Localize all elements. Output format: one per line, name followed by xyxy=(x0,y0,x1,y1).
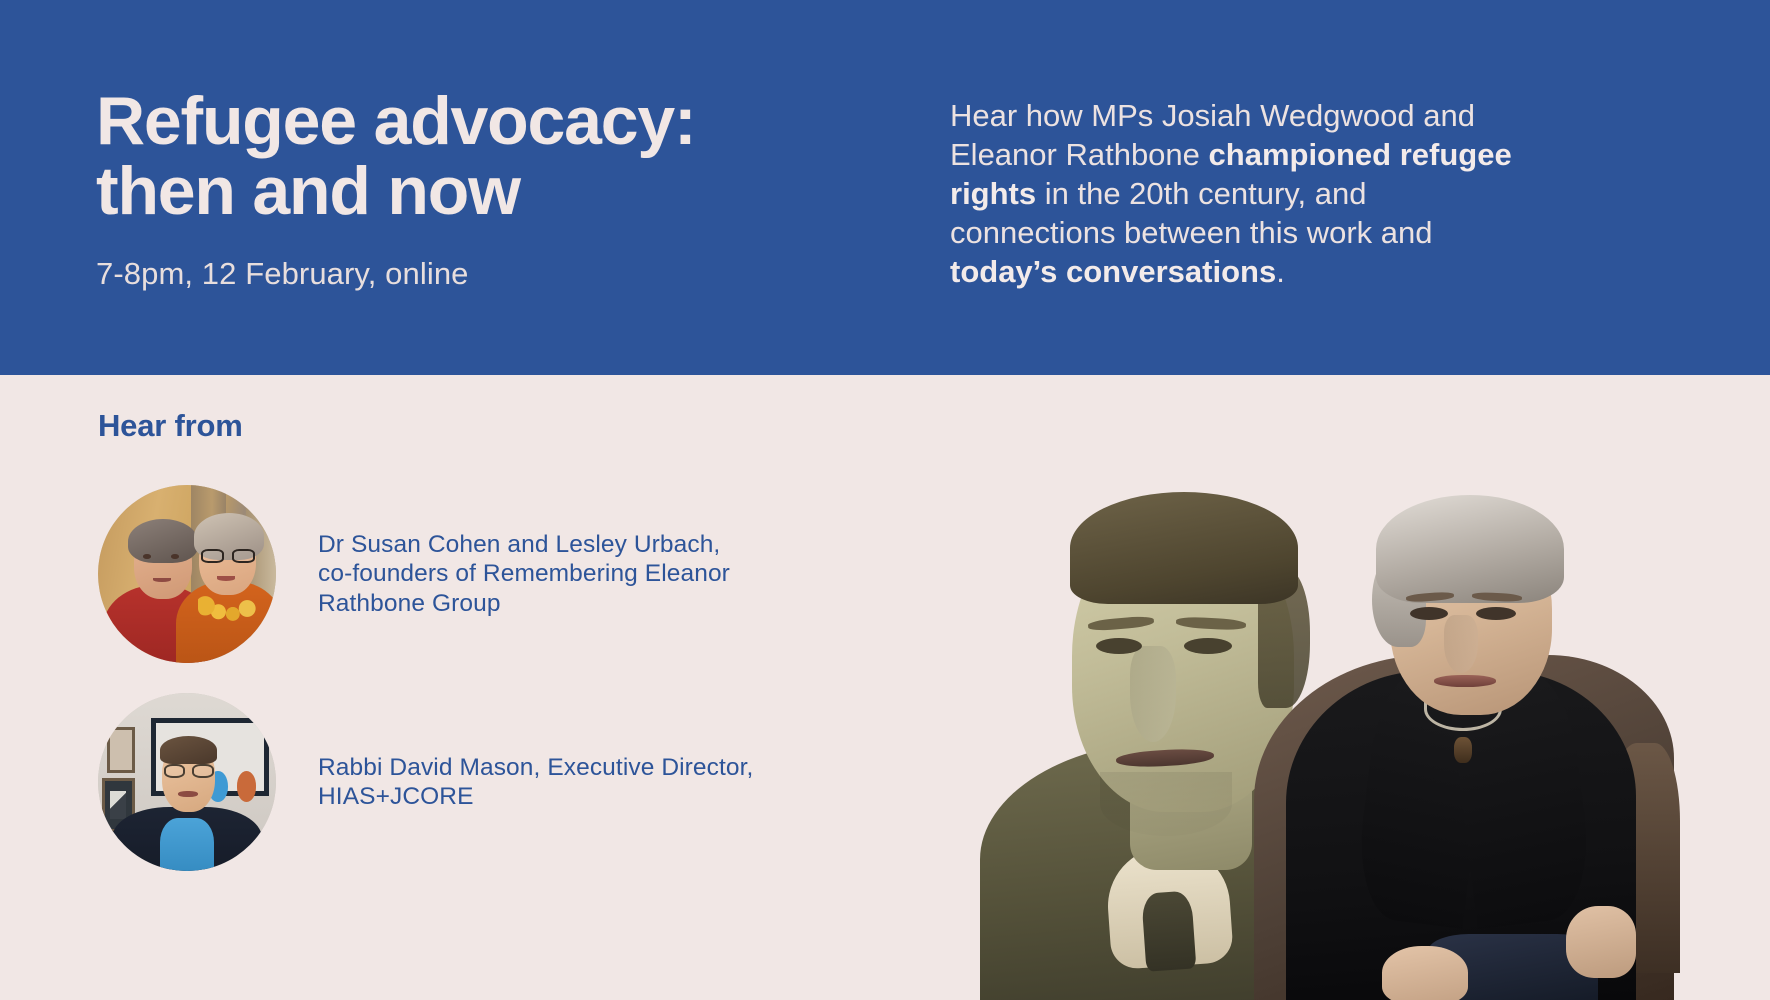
speaker-description: Dr Susan Cohen and Lesley Urbach, co-fou… xyxy=(318,530,730,618)
event-datetime: 7-8pm, 12 February, online xyxy=(96,256,950,292)
description-segment-5: . xyxy=(1276,254,1285,289)
event-description: Hear how MPs Josiah Wedgwood and Eleanor… xyxy=(950,96,1515,291)
page-title: Refugee advocacy: then and now xyxy=(96,86,950,226)
speaker-list: Dr Susan Cohen and Lesley Urbach, co-fou… xyxy=(98,485,878,901)
hear-from-heading: Hear from xyxy=(98,408,243,444)
speaker-description: Rabbi David Mason, Executive Director, H… xyxy=(318,753,753,812)
title-column: Refugee advocacy: then and now 7-8pm, 12… xyxy=(0,0,950,292)
list-item: Rabbi David Mason, Executive Director, H… xyxy=(98,693,878,871)
speakers-section: Hear from xyxy=(0,375,1770,1000)
description-column: Hear how MPs Josiah Wedgwood and Eleanor… xyxy=(950,0,1770,291)
description-segment-4: today’s conversations xyxy=(950,254,1276,289)
avatar xyxy=(98,693,276,871)
event-poster: Refugee advocacy: then and now 7-8pm, 12… xyxy=(0,0,1770,1000)
header-band: Refugee advocacy: then and now 7-8pm, 12… xyxy=(0,0,1770,375)
avatar xyxy=(98,485,276,663)
list-item: Dr Susan Cohen and Lesley Urbach, co-fou… xyxy=(98,485,878,663)
